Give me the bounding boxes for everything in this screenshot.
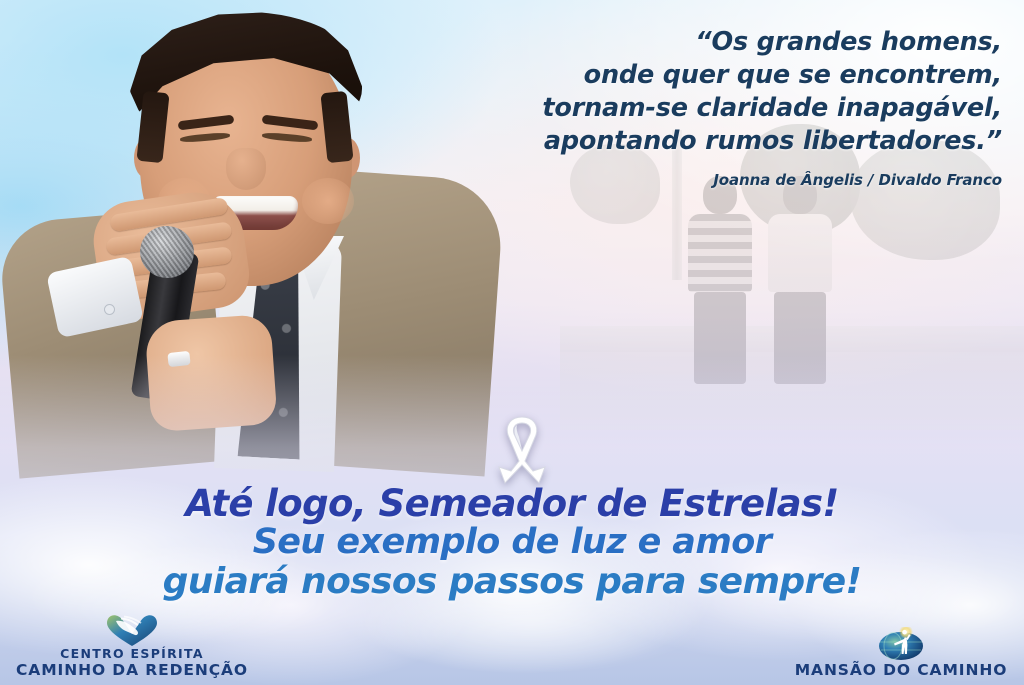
finger-ring (167, 351, 190, 367)
quote-line-3: tornam-se claridade inapagável, (442, 92, 1002, 125)
quote-line-4: apontando rumos libertadores.” (442, 125, 1002, 158)
headline-block: Até logo, Semeador de Estrelas! Seu exem… (0, 484, 1024, 601)
logo-centro-espirita[interactable]: CENTRO ESPÍRITA CAMINHO DA REDENÇÃO (6, 613, 258, 679)
cheek-right (302, 178, 354, 224)
cuff-button (104, 304, 115, 315)
nose-shape (226, 148, 266, 190)
divaldo-franco-portrait (0, 0, 470, 470)
quote-line-1: “Os grandes homens, (442, 26, 1002, 59)
logo-mansao-do-caminho[interactable]: MANSÃO DO CAMINHO (786, 627, 1016, 679)
tribute-poster: “Os grandes homens, onde quer que se enc… (0, 0, 1024, 685)
white-mourning-ribbon (489, 409, 555, 489)
quote-block: “Os grandes homens, onde quer que se enc… (442, 26, 1002, 189)
logo-right-line-1: MANSÃO DO CAMINHO (786, 661, 1016, 679)
microphone-hand (144, 314, 277, 433)
quote-line-2: onde quer que se encontrem, (442, 59, 1002, 92)
logo-left-line-1: CENTRO ESPÍRITA (6, 647, 258, 661)
globe-figure-icon (786, 627, 1016, 661)
headline-line-3: guiará nossos passos para sempre! (0, 562, 1024, 601)
logo-left-line-2: CAMINHO DA REDENÇÃO (6, 661, 258, 679)
heart-hands-icon (6, 613, 258, 647)
quote-attribution: Joanna de Ângelis / Divaldo Franco (442, 171, 1002, 189)
headline-line-1: Até logo, Semeador de Estrelas! (0, 484, 1024, 523)
walking-figure (768, 176, 832, 384)
walking-figure (688, 176, 752, 384)
headline-line-2: Seu exemplo de luz e amor (0, 523, 1024, 562)
